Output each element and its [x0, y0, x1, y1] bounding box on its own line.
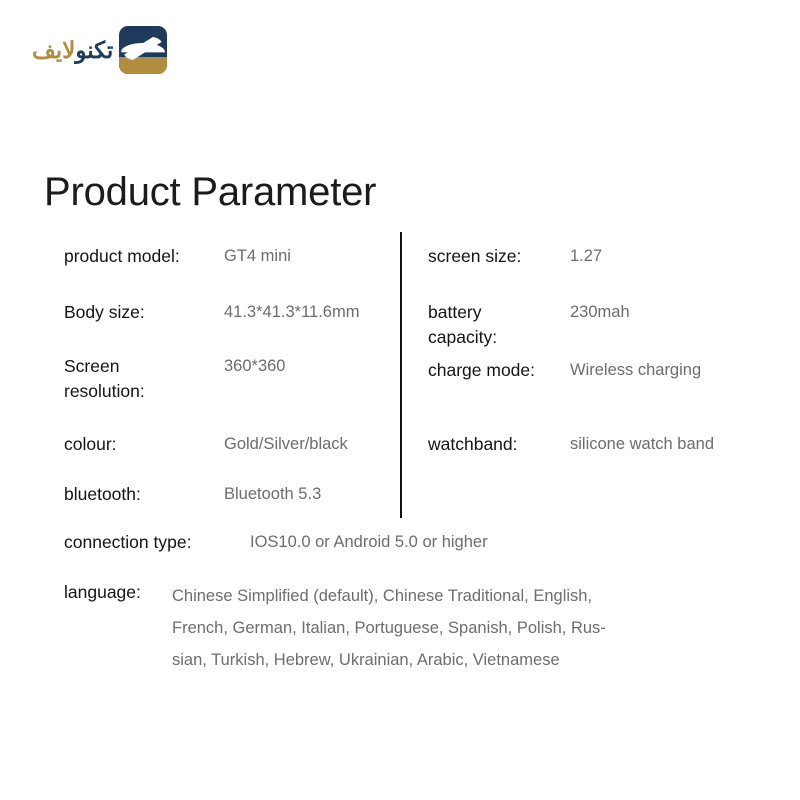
language-line: sian, Turkish, Hebrew, Ukrainian, Arabic…: [172, 644, 652, 676]
spec-value: GT4 mini: [224, 244, 386, 269]
spec-value: silicone watch band: [570, 432, 778, 457]
spec-label: battery capacity:: [428, 300, 548, 350]
table-row: colour: Gold/Silver/black: [64, 432, 386, 457]
spec-value: 1.27: [570, 244, 778, 269]
brand-wordmark: تکنولایف: [32, 39, 113, 62]
table-row: charge mode: Wireless charging: [428, 358, 778, 383]
language-line: French, German, Italian, Portuguese, Spa…: [172, 612, 652, 644]
spec-value: Gold/Silver/black: [224, 432, 386, 457]
spec-value: IOS10.0 or Android 5.0 or higher: [250, 530, 764, 555]
spec-label: colour:: [64, 432, 224, 457]
spec-label: charge mode:: [428, 358, 570, 383]
spec-value: Bluetooth 5.3: [224, 482, 386, 507]
logo-gold-band: [119, 57, 167, 74]
spec-label: Screen resolution:: [64, 354, 204, 404]
language-line: Chinese Simplified (default), Chinese Tr…: [172, 580, 652, 612]
column-divider: [400, 232, 402, 518]
spec-label: language:: [64, 580, 172, 605]
table-row: connection type: IOS10.0 or Android 5.0 …: [64, 530, 764, 555]
spec-label: Body size:: [64, 300, 224, 325]
spec-label: watchband:: [428, 432, 570, 457]
table-row: Body size: 41.3*41.3*11.6mm: [64, 300, 386, 325]
table-row: watchband: silicone watch band: [428, 432, 778, 457]
spec-label: bluetooth:: [64, 482, 224, 507]
table-row: product model: GT4 mini: [64, 244, 386, 269]
table-row: Screen resolution: 360*360: [64, 354, 386, 404]
spec-value: 360*360: [224, 354, 386, 379]
brand-wordmark-gold: لایف: [32, 37, 75, 63]
table-row: bluetooth: Bluetooth 5.3: [64, 482, 386, 507]
spec-value: Chinese Simplified (default), Chinese Tr…: [172, 580, 652, 676]
spec-label: product model:: [64, 244, 224, 269]
spec-value: 41.3*41.3*11.6mm: [224, 300, 386, 325]
spec-value: Wireless charging: [570, 358, 778, 383]
table-row: screen size: 1.27: [428, 244, 778, 269]
brand-logo: تکنولایف: [32, 26, 167, 74]
table-row: battery capacity: 230mah: [428, 300, 778, 350]
spec-label: screen size:: [428, 244, 570, 269]
spec-value: 230mah: [570, 300, 778, 325]
spec-label: connection type:: [64, 530, 250, 555]
brand-wordmark-navy: تکنو: [75, 37, 113, 63]
technolife-logo-icon: [119, 26, 167, 74]
table-row: language: Chinese Simplified (default), …: [64, 580, 764, 676]
page-title: Product Parameter: [44, 169, 376, 215]
